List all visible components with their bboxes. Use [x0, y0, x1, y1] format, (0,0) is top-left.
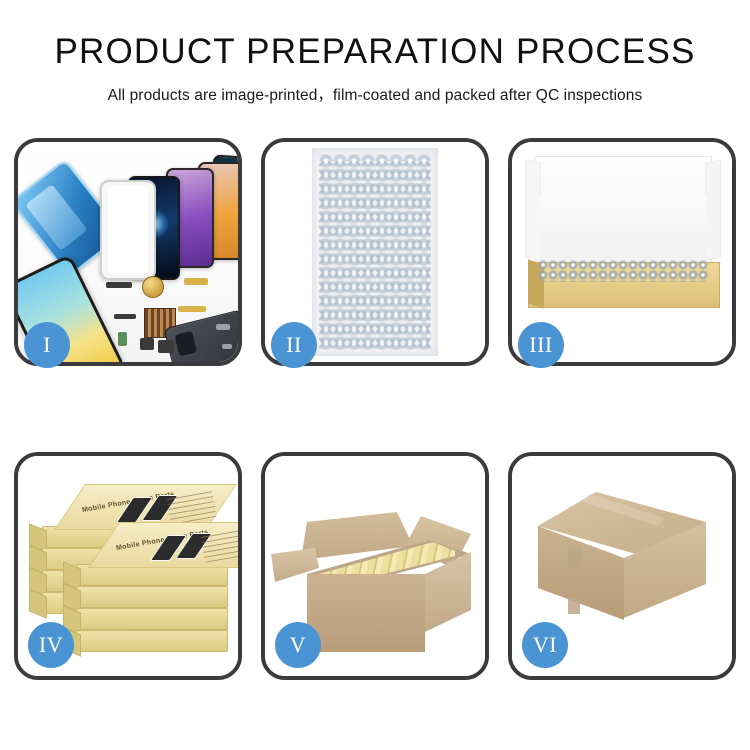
small-part-3	[140, 338, 154, 350]
small-part-6	[222, 344, 232, 349]
product-preparation-infographic: PRODUCT PREPARATION PROCESS All products…	[0, 0, 750, 750]
step-panel-5: V	[261, 452, 489, 680]
stack-box-f2	[76, 586, 228, 608]
step-panel-3: III	[508, 138, 736, 366]
step-badge-2: II	[271, 322, 317, 368]
speaker-part-icon	[142, 276, 164, 298]
carton-tab-lower	[568, 598, 580, 614]
step-badge-1: I	[24, 322, 70, 368]
step-panel-6: VI	[508, 452, 736, 680]
step-badge-4: IV	[28, 622, 74, 668]
step-panel-1: I	[14, 138, 242, 366]
carton-front	[307, 574, 425, 652]
battery-part-icon	[118, 332, 127, 346]
step-badge-5: V	[275, 622, 321, 668]
step-panel-4: Mobile Phone Spare Parts Mobile Phone Sp…	[14, 452, 242, 680]
step-badge-6: VI	[522, 622, 568, 668]
small-part-5	[216, 324, 230, 330]
stack-box-f3	[76, 608, 228, 630]
foam-sheet	[540, 194, 706, 268]
page-title: PRODUCT PREPARATION PROCESS	[0, 34, 750, 71]
header: PRODUCT PREPARATION PROCESS All products…	[0, 0, 750, 105]
flex-cable-1	[184, 278, 208, 285]
small-part-4	[158, 340, 174, 353]
bubble-grid-overlay	[319, 161, 431, 351]
small-part-1	[106, 282, 132, 288]
steps-grid: I II	[14, 138, 736, 680]
step-badge-3: III	[518, 322, 564, 368]
page-subtitle: All products are image-printed，film-coat…	[0, 83, 750, 105]
small-part-2	[114, 314, 136, 319]
stack-box-f4	[76, 630, 228, 652]
bubble-wrapped-item	[538, 260, 708, 282]
screen-protector-icon	[100, 180, 156, 280]
step-panel-2: II	[261, 138, 489, 366]
flex-cable-2	[178, 306, 206, 312]
carton-tab-upper	[568, 548, 582, 568]
